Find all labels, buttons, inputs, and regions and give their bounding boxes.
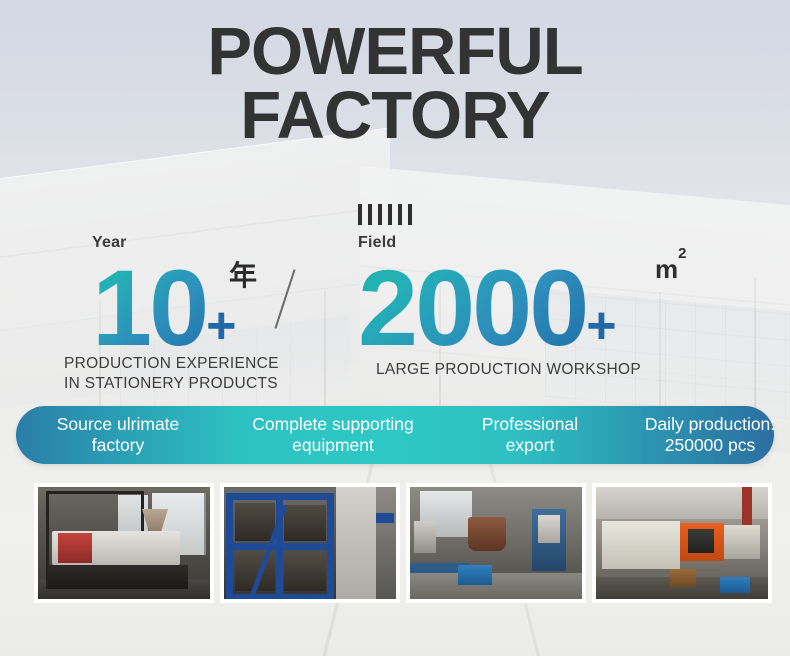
- factory-photo-strip: [34, 483, 772, 603]
- stat-area-unit-exponent: 2: [678, 245, 686, 262]
- stat-area: Field 2000 +: [358, 234, 617, 362]
- promo-banner: POWERFUL FACTORY Year 10 + 年 PRODUCTION …: [0, 0, 790, 656]
- stat-years-caption-line-1: PRODUCTION EXPERIENCE: [64, 354, 279, 374]
- stat-years: Year 10 +: [92, 234, 237, 362]
- stat-years-number: 10: [92, 254, 206, 362]
- feature-item-3-line-1: Professional: [450, 414, 610, 435]
- stat-area-unit-base: m: [655, 254, 678, 284]
- feature-item-1-line-2: factory: [20, 435, 216, 456]
- feature-item-equipment[interactable]: Complete supporting equipment: [220, 414, 446, 457]
- stat-area-caption-line-1: LARGE PRODUCTION WORKSHOP: [376, 360, 641, 380]
- production-workshop-photo[interactable]: [406, 483, 586, 603]
- stat-years-unit: 年: [229, 254, 257, 294]
- stat-years-caption-line-2: IN STATIONERY PRODUCTS: [64, 374, 279, 394]
- feature-item-4-line-2: 250000 pcs: [618, 435, 790, 456]
- headline-line-2: FACTORY: [0, 84, 790, 148]
- stats-row: Year 10 + 年 PRODUCTION EXPERIENCE IN STA…: [0, 196, 790, 392]
- stat-area-number: 2000: [358, 254, 586, 362]
- page-title: POWERFUL FACTORY: [0, 20, 790, 149]
- stat-area-plus: +: [586, 300, 616, 352]
- feature-item-1-line-1: Source ulrimate: [20, 414, 216, 435]
- stat-years-value: 10 +: [92, 254, 237, 362]
- feature-item-source-factory[interactable]: Source ulrimate factory: [16, 414, 220, 457]
- stat-area-value: 2000 +: [358, 254, 617, 362]
- mold-storage-rack-photo[interactable]: [220, 483, 400, 603]
- feature-item-4-line-1: Daily production:: [618, 414, 790, 435]
- feature-item-daily-production[interactable]: Daily production: 250000 pcs: [614, 414, 790, 457]
- stat-area-caption: LARGE PRODUCTION WORKSHOP: [376, 360, 641, 380]
- feature-banner: Source ulrimate factory Complete support…: [16, 406, 774, 464]
- feature-item-2-line-2: equipment: [224, 435, 442, 456]
- stat-area-unit: m2: [655, 254, 686, 285]
- injection-molding-machine-photo[interactable]: [34, 483, 214, 603]
- tick-marks-decoration: [358, 204, 412, 225]
- orange-molding-machine-photo[interactable]: [592, 483, 772, 603]
- stat-years-caption: PRODUCTION EXPERIENCE IN STATIONERY PROD…: [64, 354, 279, 394]
- stat-years-plus: +: [206, 300, 236, 352]
- feature-item-2-line-1: Complete supporting: [224, 414, 442, 435]
- feature-item-export[interactable]: Professional export: [446, 414, 614, 457]
- feature-item-3-line-2: export: [450, 435, 610, 456]
